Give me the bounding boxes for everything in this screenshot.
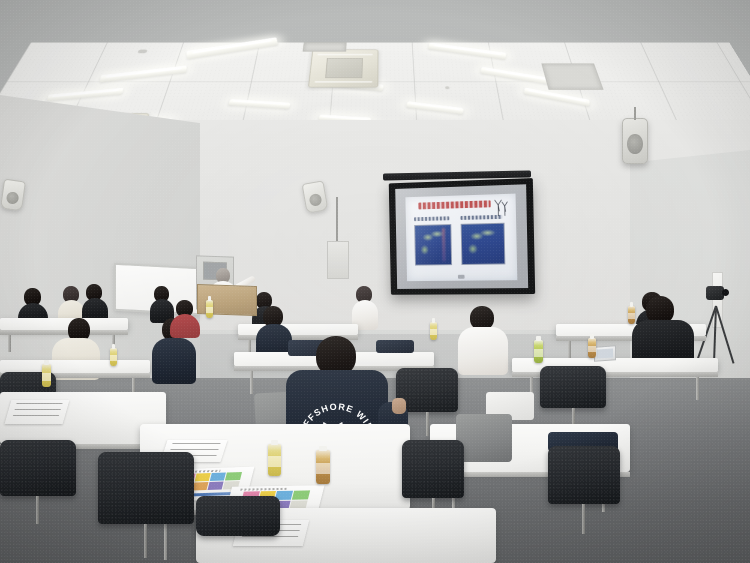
projected-slide: [405, 194, 517, 282]
chair-leg: [36, 496, 39, 524]
mesh-back-chair[interactable]: [540, 366, 606, 408]
speaker-cone: [309, 193, 323, 207]
bottle-label: [430, 329, 437, 335]
printed-color-handout[interactable]: [5, 400, 70, 424]
bottle-label: [42, 373, 51, 381]
bottle-label: [588, 346, 596, 353]
mesh-back-chair[interactable]: [548, 446, 620, 504]
ac-center-panel: [325, 58, 363, 79]
table-leg: [568, 336, 571, 358]
pet-drink-bottle[interactable]: [42, 364, 51, 387]
ceiling-access-panel: [303, 42, 347, 51]
slide-page-number: [458, 275, 465, 278]
ceiling-cassette-air-conditioner: [308, 50, 378, 88]
table-leg: [8, 330, 11, 352]
screen-surface: [395, 184, 528, 289]
chair-leg: [144, 524, 147, 558]
bottle-label: [268, 456, 281, 467]
mesh-back-chair[interactable]: [0, 440, 76, 496]
pet-drink-bottle[interactable]: [588, 338, 596, 358]
mesh-back-chair[interactable]: [196, 496, 280, 536]
handout-text-lines: [11, 403, 62, 420]
pet-drink-bottle[interactable]: [628, 306, 635, 324]
bottle-label: [628, 313, 635, 319]
speaker-cone: [6, 191, 20, 205]
folding-classroom-table[interactable]: [0, 318, 128, 330]
map-overlay-streak: [442, 228, 445, 261]
speaker-cone: [627, 134, 642, 154]
screen-pull-rod: [336, 197, 338, 243]
wind-turbine-logo: [493, 197, 509, 211]
torso: [152, 338, 196, 384]
jacket-on-chair[interactable]: [456, 414, 512, 462]
pet-drink-bottle[interactable]: [316, 450, 330, 484]
handout-title-text: [240, 488, 287, 491]
bottle-label: [206, 307, 213, 313]
pet-drink-bottle[interactable]: [110, 348, 117, 366]
right-map-caption: [460, 215, 502, 220]
mesh-back-chair[interactable]: [402, 440, 464, 498]
ac-vent: [318, 54, 373, 56]
wall-mounted-speaker: [0, 179, 26, 212]
left-map-caption: [414, 216, 449, 221]
table-leg: [696, 372, 699, 400]
pet-drink-bottle[interactable]: [268, 444, 281, 476]
ac-vent: [315, 81, 372, 83]
pet-drink-bottle[interactable]: [206, 300, 213, 318]
bag-on-table[interactable]: [376, 340, 414, 353]
pet-drink-bottle[interactable]: [534, 340, 543, 363]
ceiling-sensor: [445, 86, 450, 89]
chair-leg: [426, 412, 429, 436]
torso: [458, 327, 508, 375]
mesh-back-chair[interactable]: [98, 452, 194, 524]
table-leg: [250, 366, 253, 394]
chair-leg: [582, 504, 585, 534]
ceiling-hung-speaker: [622, 118, 648, 164]
bottle-label: [110, 355, 117, 361]
satellite-ocean-map-right: [460, 223, 505, 265]
classroom-photo: FFSHORE WIND: [0, 0, 750, 563]
ceiling-access-panel: [541, 63, 603, 89]
satellite-ocean-map-left: [415, 224, 453, 265]
laptop-screen: [597, 348, 612, 359]
slide-title-text: [418, 201, 491, 210]
torso: [170, 314, 200, 338]
projection-screen[interactable]: [389, 178, 535, 295]
pet-drink-bottle[interactable]: [430, 322, 437, 340]
laptop-computer[interactable]: [594, 345, 616, 362]
bottle-label: [316, 463, 330, 475]
video-camera: [706, 286, 724, 300]
folding-classroom-table[interactable]: [238, 324, 358, 335]
hand: [392, 398, 406, 414]
bottle-label: [534, 349, 543, 357]
